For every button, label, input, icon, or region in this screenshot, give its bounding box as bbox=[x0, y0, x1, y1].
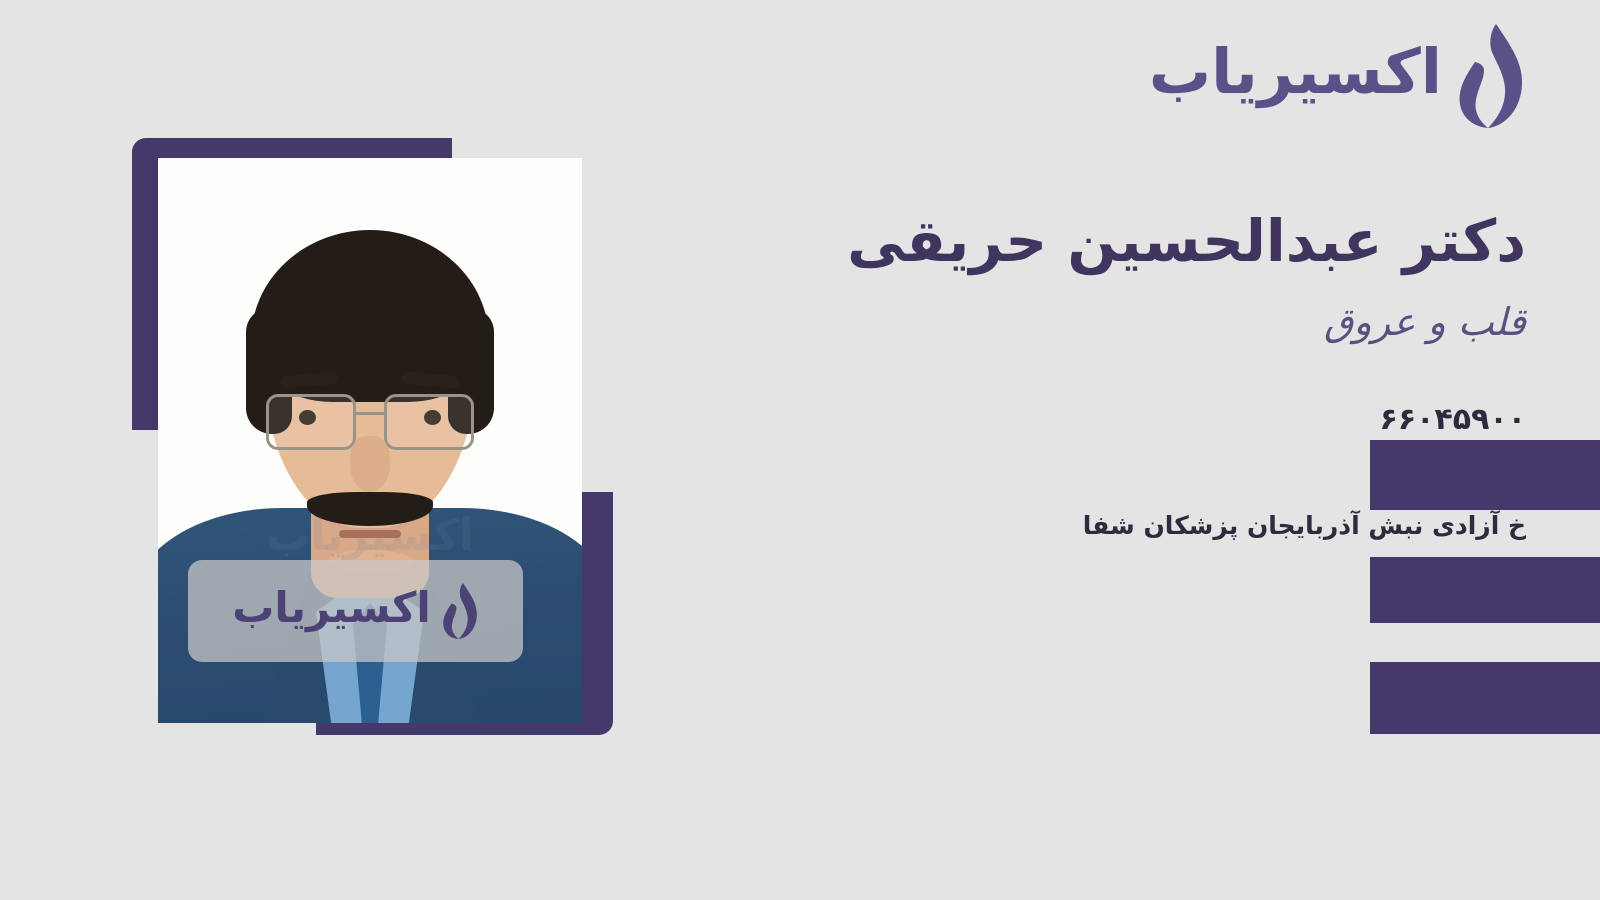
accent-bar-3 bbox=[1370, 662, 1600, 734]
photo-composition: اکسیریاب اکسیریاب bbox=[132, 138, 617, 738]
address-row: خ آزادی نبش آذربایجان پزشکان شفا bbox=[706, 505, 1526, 545]
accent-bar-1 bbox=[1370, 440, 1600, 510]
brand-logo[interactable]: اکسیریاب bbox=[1149, 22, 1526, 130]
doctor-photo: اکسیریاب اکسیریاب bbox=[158, 158, 582, 723]
photo-watermark-text: اکسیریاب bbox=[232, 587, 431, 635]
doctor-profile-card: اکسیریاب bbox=[0, 0, 1600, 900]
flame-icon bbox=[1448, 22, 1526, 130]
doctor-name: دکتر عبدالحسین حریقی bbox=[706, 205, 1526, 278]
photo-watermark: اکسیریاب bbox=[188, 560, 523, 662]
phone-row: ۶۶۰۴۵۹۰۰ bbox=[706, 399, 1526, 439]
clinic-address: خ آزادی نبش آذربایجان پزشکان شفا bbox=[1057, 511, 1526, 540]
phone-number[interactable]: ۶۶۰۴۵۹۰۰ bbox=[1340, 402, 1526, 437]
brand-wordmark: اکسیریاب bbox=[1149, 41, 1442, 111]
flame-icon bbox=[437, 580, 479, 642]
accent-bar-2 bbox=[1370, 557, 1600, 623]
doctor-specialty: قلب و عروق bbox=[706, 300, 1526, 346]
